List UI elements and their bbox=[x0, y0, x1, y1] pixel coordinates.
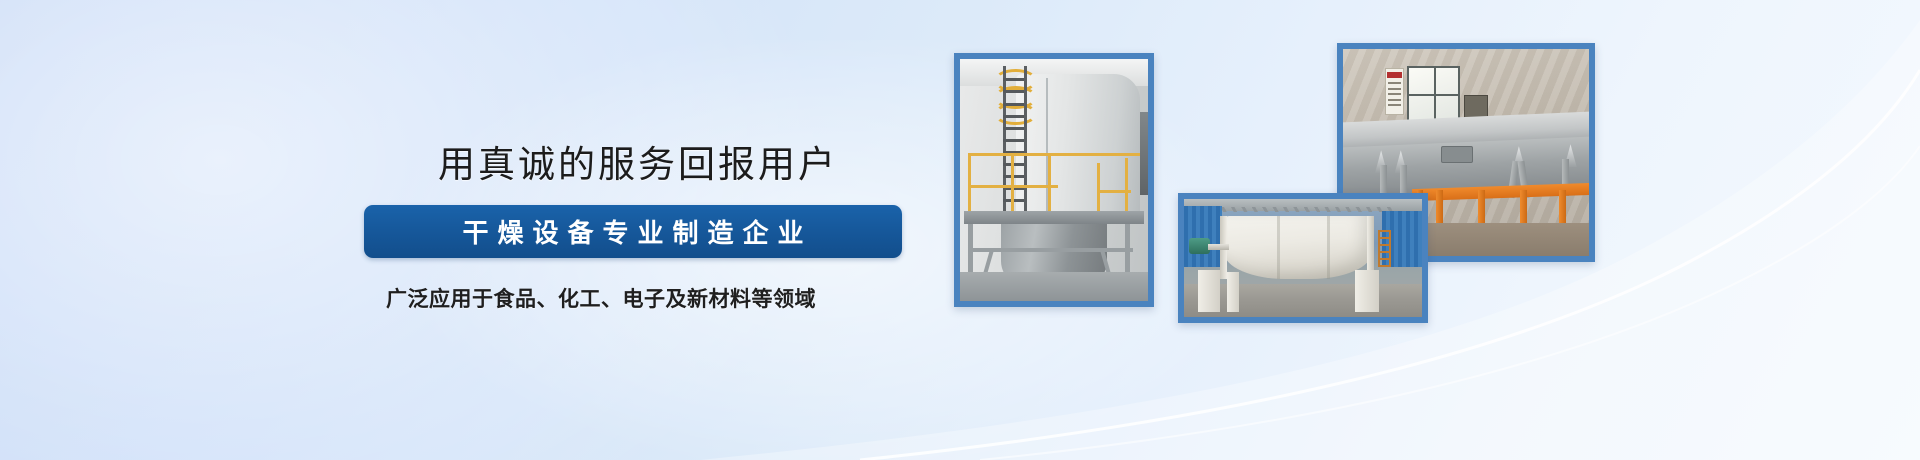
tagline-badge: 干燥设备专业制造企业 bbox=[364, 205, 902, 258]
spray-dryer-scene bbox=[960, 59, 1148, 301]
subtitle-text: 广泛应用于食品、化工、电子及新材料等领域 bbox=[386, 283, 816, 313]
tagline-badge-label: 干燥设备专业制造企业 bbox=[453, 213, 812, 250]
photo-ribbon-mixer[interactable] bbox=[1178, 193, 1428, 323]
ribbon-mixer-scene bbox=[1184, 199, 1422, 317]
hero-banner: 用真诚的服务回报用户 干燥设备专业制造企业 广泛应用于食品、化工、电子及新材料等… bbox=[0, 0, 1920, 460]
page-title: 用真诚的服务回报用户 bbox=[438, 134, 838, 188]
photo-spray-dryer-tower[interactable] bbox=[954, 53, 1154, 307]
headline-block: 用真诚的服务回报用户 干燥设备专业制造企业 广泛应用于食品、化工、电子及新材料等… bbox=[0, 0, 960, 460]
